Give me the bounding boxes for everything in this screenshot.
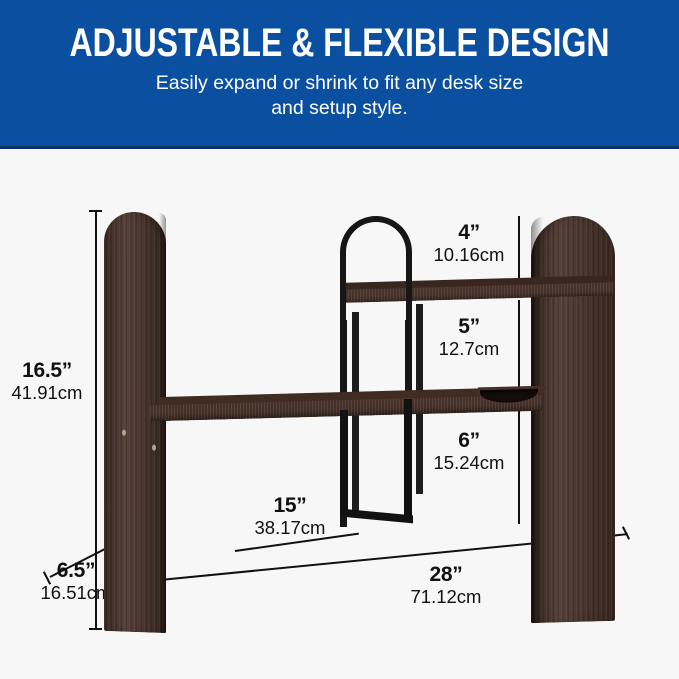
lower-shelf-width-dimension-label: 15” 38.17cm	[228, 495, 352, 538]
lower-shelf-clearance-inches: 6”	[425, 430, 513, 451]
height-dimension-tick-top	[89, 210, 102, 212]
page-subtitle: Easily expand or shrink to fit any desk …	[0, 65, 679, 121]
metal-frame-lower-left-leg	[340, 410, 348, 516]
width-dimension-cm: 71.12cm	[366, 588, 526, 607]
arch-clearance-dimension-label: 4” 10.16cm	[425, 222, 513, 265]
header-banner: ADJUSTABLE & FLEXIBLE DESIGN Easily expa…	[0, 0, 679, 149]
arch-clearance-cm: 10.16cm	[425, 246, 513, 265]
height-dimension-cm: 41.91cm	[4, 384, 90, 403]
lower-shelf-clearance-cm: 15.24cm	[425, 454, 513, 473]
width-dimension-inches: 28”	[366, 564, 526, 585]
height-dimension-inches: 16.5”	[4, 360, 90, 381]
arch-clearance-inches: 4”	[425, 222, 513, 243]
lower-shelf-clearance-dimension-line	[518, 404, 520, 524]
upper-shelf-clearance-dimension-line	[518, 300, 520, 398]
infographic-page: ADJUSTABLE & FLEXIBLE DESIGN Easily expa…	[0, 0, 679, 679]
page-subtitle-line-2: and setup style.	[0, 96, 679, 121]
lower-shelf-clearance-dimension-label: 6” 15.24cm	[425, 430, 513, 473]
page-title: ADJUSTABLE & FLEXIBLE DESIGN	[68, 0, 611, 65]
screw-dot	[122, 430, 126, 436]
lower-shelf-width-cm: 38.17cm	[228, 519, 352, 538]
upper-shelf-clearance-inches: 5”	[425, 316, 513, 337]
lower-shelf-width-inches: 15”	[228, 495, 352, 516]
height-dimension-tick-bottom	[89, 628, 102, 630]
height-dimension-label: 16.5” 41.91cm	[4, 360, 90, 403]
product-illustration: 16.5” 41.91cm 6.5” 16.51cm 15” 38.17cm 2…	[0, 152, 679, 679]
metal-arch-frame	[340, 216, 412, 324]
left-side-panel	[104, 211, 166, 633]
page-subtitle-line-1: Easily expand or shrink to fit any desk …	[0, 71, 679, 96]
screw-dot	[152, 445, 156, 451]
upper-shelf-clearance-dimension-label: 5” 12.7cm	[425, 316, 513, 359]
left-side-panel-edge	[159, 213, 166, 633]
metal-frame-lower-right-leg	[404, 399, 412, 517]
width-dimension-label: 28” 71.12cm	[366, 564, 526, 607]
upper-shelf-clearance-cm: 12.7cm	[425, 340, 513, 359]
